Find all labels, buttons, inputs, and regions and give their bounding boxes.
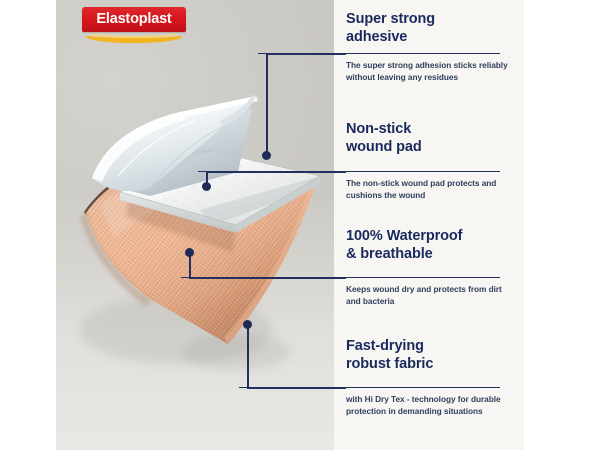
feature-title-line1: Fast-drying <box>346 338 424 354</box>
feature-waterproof-breathable: 100% Waterproof & breathable <box>346 228 518 263</box>
feature-rule-fabric <box>239 387 500 389</box>
feature-rule-waterproof <box>181 277 500 279</box>
feature-title-line2: adhesive <box>346 29 407 45</box>
feature-super-strong-adhesive: Super strong adhesive <box>346 11 518 46</box>
feature-title-line2: & breathable <box>346 246 433 262</box>
callout-dot-fabric <box>243 320 252 329</box>
callout-dot-adhesive <box>262 151 271 160</box>
feature-body-super-strong-adhesive: The super strong adhesion sticks reliabl… <box>346 60 518 83</box>
callout-dot-wound-pad <box>202 182 211 191</box>
feature-title: Super strong adhesive <box>346 11 518 46</box>
feature-description: The non-stick wound pad protects and cus… <box>346 178 518 201</box>
feature-non-stick-wound-pad: Non-stick wound pad <box>346 121 518 156</box>
feature-body-fast-drying-robust-fabric: with Hi Dry Tex - technology for durable… <box>346 394 518 417</box>
feature-rule-adhesive <box>258 53 500 55</box>
feature-body-waterproof-breathable: Keeps wound dry and protects from dirt a… <box>346 284 518 307</box>
feature-title: Non-stick wound pad <box>346 121 518 156</box>
feature-title: Fast-drying robust fabric <box>346 338 518 373</box>
brand-logo: Elastoplast <box>82 7 186 45</box>
feature-title-line2: wound pad <box>346 139 422 155</box>
product-infographic: Elastoplast Super strong adhesive The su… <box>0 0 600 450</box>
feature-fast-drying-robust-fabric: Fast-drying robust fabric <box>346 338 518 373</box>
feature-title-line1: Non-stick <box>346 121 411 137</box>
feature-description: The super strong adhesion sticks reliabl… <box>346 60 518 83</box>
feature-title-line1: 100% Waterproof <box>346 228 462 244</box>
feature-title-line1: Super strong <box>346 11 435 27</box>
feature-title-line2: robust fabric <box>346 356 433 372</box>
feature-title: 100% Waterproof & breathable <box>346 228 518 263</box>
feature-description: with Hi Dry Tex - technology for durable… <box>346 394 518 417</box>
logo-wordmark: Elastoplast <box>82 7 186 32</box>
feature-description: Keeps wound dry and protects from dirt a… <box>346 284 518 307</box>
callout-dot-waterproof <box>185 248 194 257</box>
feature-body-non-stick-wound-pad: The non-stick wound pad protects and cus… <box>346 178 518 201</box>
feature-rule-wound-pad <box>198 171 500 173</box>
